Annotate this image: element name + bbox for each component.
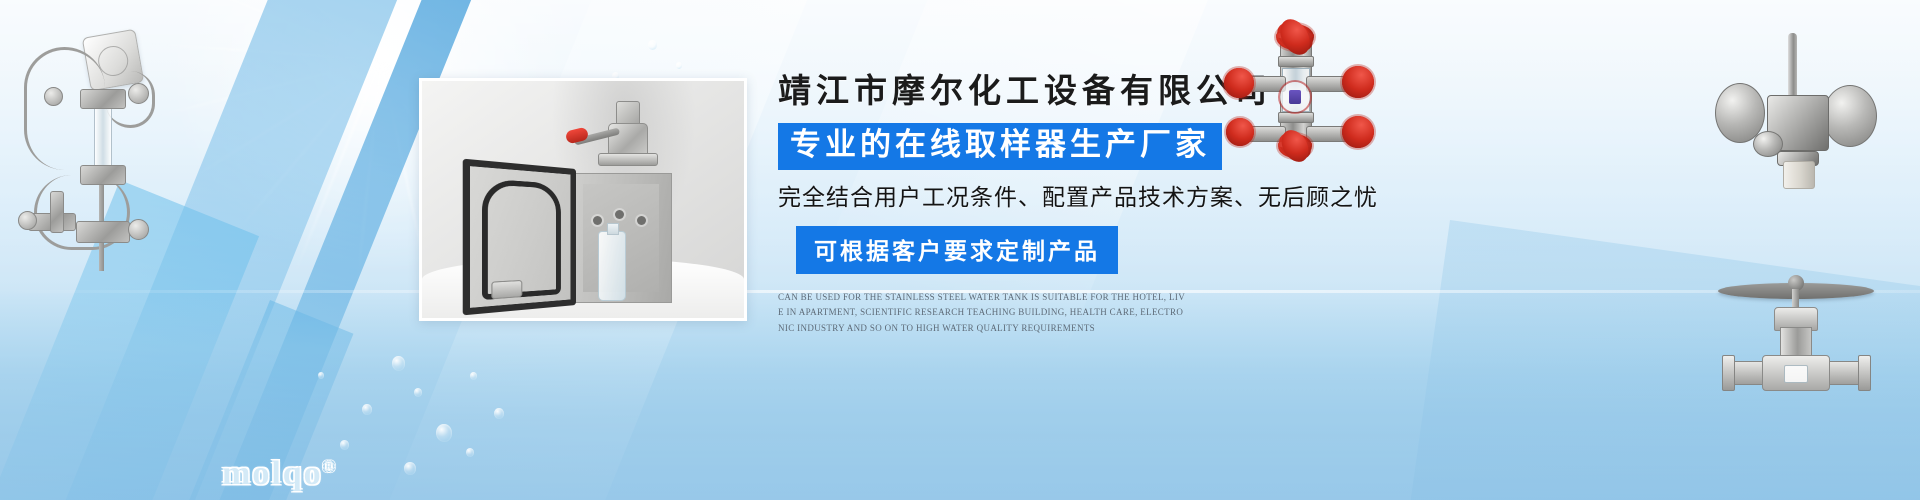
handwheel-bottom [1278, 134, 1312, 158]
sampler-flange-d [128, 219, 149, 240]
photo-cabinet-port [593, 216, 602, 225]
sun-ray [204, 0, 381, 61]
water-droplet [318, 372, 324, 379]
water-droplet [404, 462, 416, 475]
headline-badge: 专业的在线取样器生产厂家 [778, 123, 1222, 170]
valve-outlet-cylinder [1783, 161, 1815, 189]
english-description: CAN BE USED FOR THE STAINLESS STEEL WATE… [778, 290, 1186, 337]
registered-mark-icon: ® [323, 459, 335, 476]
left-sampler-device [10, 25, 170, 275]
sampler-block-top [80, 89, 126, 109]
handwheel-spoke [1276, 32, 1314, 39]
sampler-relief-valve [50, 191, 64, 233]
photo-door-latch [491, 280, 522, 299]
handwheel-right-lower [1342, 116, 1374, 148]
sun-ray [356, 60, 382, 289]
watermark-text: molqo [222, 455, 323, 492]
manifold-seal-bottom [1278, 112, 1314, 123]
handwheel-left-lower [1226, 118, 1254, 146]
water-droplet [392, 356, 405, 371]
valve-flange-right [1823, 85, 1877, 147]
manifold-brand-emblem [1280, 82, 1310, 112]
handwheel-right-upper [1342, 66, 1374, 98]
cta-badge[interactable]: 可根据客户要求定制产品 [796, 226, 1118, 274]
water-droplet [466, 448, 474, 457]
water-droplet [494, 408, 504, 419]
valve-nameplate [1784, 365, 1808, 383]
valve-end-flange-right [1858, 355, 1871, 391]
water-droplet [470, 372, 477, 380]
photo-cabinet-port [615, 210, 624, 219]
photo-valve-flange [598, 153, 658, 166]
water-droplet [362, 404, 372, 415]
sampler-flange-b [128, 83, 149, 104]
sun-ray [158, 59, 382, 117]
subheadline: 完全结合用户工况条件、配置产品技术方案、无后顾之忧 [778, 184, 1398, 212]
handwheel-spoke [1342, 128, 1374, 137]
manifold-seal-top [1278, 56, 1314, 67]
handwheel-spoke [1224, 79, 1254, 87]
photo-cabinet-port [637, 216, 646, 225]
sun-ray [185, 59, 381, 183]
sampler-flange-c [18, 211, 37, 230]
handwheel-valve [1700, 245, 1890, 415]
sampler-block-low [76, 221, 130, 243]
handwheel-spoke [1342, 78, 1374, 87]
sampler-block-mid [80, 165, 126, 185]
sun-ray [232, 59, 381, 236]
water-droplet [436, 424, 452, 442]
handwheel-top [1276, 24, 1314, 50]
water-droplet [648, 40, 657, 50]
photo-sample-bottle [598, 231, 626, 301]
sun-ray [151, 43, 381, 61]
handwheel-spoke [1226, 128, 1254, 136]
product-photo [419, 78, 747, 321]
cross-manifold-assembly [1218, 30, 1378, 150]
sun-ray [167, 0, 381, 61]
photo-cabinet-door [463, 159, 576, 316]
flanged-lever-valve [1695, 25, 1890, 190]
water-droplet [676, 62, 682, 69]
photo-sampling-valve [590, 99, 662, 173]
handwheel-spoke [1278, 141, 1312, 148]
water-droplet [340, 440, 349, 450]
brand-watermark: molqo® [222, 455, 335, 493]
water-droplet [414, 388, 422, 397]
promotional-banner: 靖江市摩尔化工设备有限公司 专业的在线取样器生产厂家 完全结合用户工况条件、配置… [0, 0, 1920, 500]
handwheel-left-upper [1224, 68, 1254, 98]
sun-ray [294, 60, 382, 274]
valve-end-flange-left [1722, 355, 1735, 391]
sampler-flange-a [44, 87, 63, 106]
